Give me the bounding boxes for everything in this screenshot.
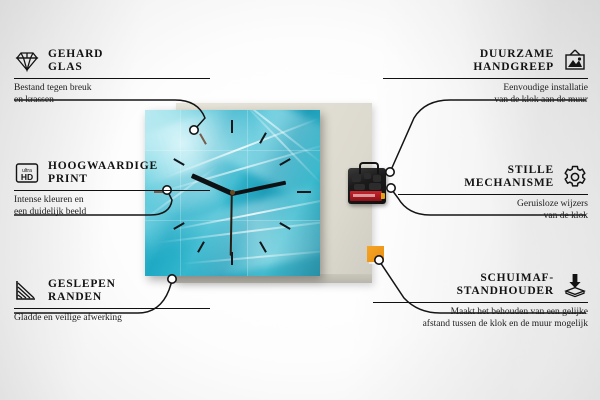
- feature-desc-line2: van de klok aan de muur: [494, 95, 588, 105]
- feature-desc-line1: Intense kleuren en: [14, 195, 84, 205]
- feature-title-line2: GLAS: [48, 61, 83, 73]
- clock-mechanism: [348, 168, 386, 204]
- feature-title-line2: HANDGREEP: [473, 61, 554, 73]
- picture-frame-hanger-icon: [562, 48, 588, 74]
- divider: [14, 308, 210, 309]
- clock-hub: [230, 190, 235, 195]
- feature-duurzame-handgreep: DUURZAME HANDGREEP Eenvoudige installati…: [383, 48, 588, 106]
- press-pad-icon: [562, 272, 588, 298]
- battery: [350, 191, 382, 201]
- hour-tick: [231, 120, 233, 133]
- minute-hand: [232, 181, 287, 196]
- feature-schuimafstandhouder: SCHUIMAF- STANDHOUDER Maakt het behouden…: [373, 272, 588, 330]
- feature-stille-mechanisme: STILLE MECHANISME Geruisloze wijzers van…: [398, 164, 588, 222]
- feature-desc-line1: Bestand tegen breuk: [14, 83, 92, 93]
- feature-title-line2: MECHANISME: [464, 177, 554, 189]
- feature-title-line1: STILLE: [508, 164, 554, 176]
- feature-desc-line2: van de klok: [544, 211, 588, 221]
- diamond-icon: [14, 48, 40, 74]
- feature-title-line2: PRINT: [48, 173, 88, 185]
- feature-hoogwaardige-print: ultra HD HOOGWAARDIGE PRINT Intense kleu…: [14, 160, 210, 218]
- feature-desc-line1: Gladde en veilige afwerking: [14, 313, 122, 323]
- feature-title-line2: STANDHOUDER: [457, 285, 554, 297]
- feature-title-line1: GEHARD: [48, 48, 103, 60]
- feature-title-line1: SCHUIMAF-: [480, 272, 554, 284]
- feature-gehard-glas: GEHARD GLAS Bestand tegen breuk en krass…: [14, 48, 210, 106]
- feature-title-line1: GESLEPEN: [48, 278, 116, 290]
- feature-desc-line1: Eenvoudige installatie: [503, 83, 588, 93]
- feature-desc-line1: Geruisloze wijzers: [517, 199, 588, 209]
- ultra-hd-icon: ultra HD: [14, 160, 40, 186]
- divider: [14, 78, 210, 79]
- bevelled-edge-icon: [14, 278, 40, 304]
- feature-desc-line2: afstand tussen de klok en de muur mogeli…: [423, 319, 588, 329]
- feature-desc-line2: een duidelijk beeld: [14, 207, 86, 217]
- foam-spacer: [367, 246, 384, 262]
- feature-title-line2: RANDEN: [48, 291, 102, 303]
- svg-text:HD: HD: [21, 172, 33, 182]
- feature-title-line1: DUURZAME: [480, 48, 554, 60]
- feature-geslepen-randen: GESLEPEN RANDEN Gladde en veilige afwerk…: [14, 278, 210, 325]
- feature-desc-line2: en krassen: [14, 95, 54, 105]
- divider: [373, 302, 588, 303]
- feature-desc-line1: Maakt het behouden van een gelijke: [451, 307, 588, 317]
- gear-icon: [562, 164, 588, 190]
- divider: [398, 194, 588, 195]
- divider: [383, 78, 588, 79]
- infographic-canvas: GEHARD GLAS Bestand tegen breuk en krass…: [0, 0, 600, 400]
- feature-title-line1: HOOGWAARDIGE: [48, 160, 158, 172]
- divider: [14, 190, 210, 191]
- hour-tick: [297, 191, 311, 193]
